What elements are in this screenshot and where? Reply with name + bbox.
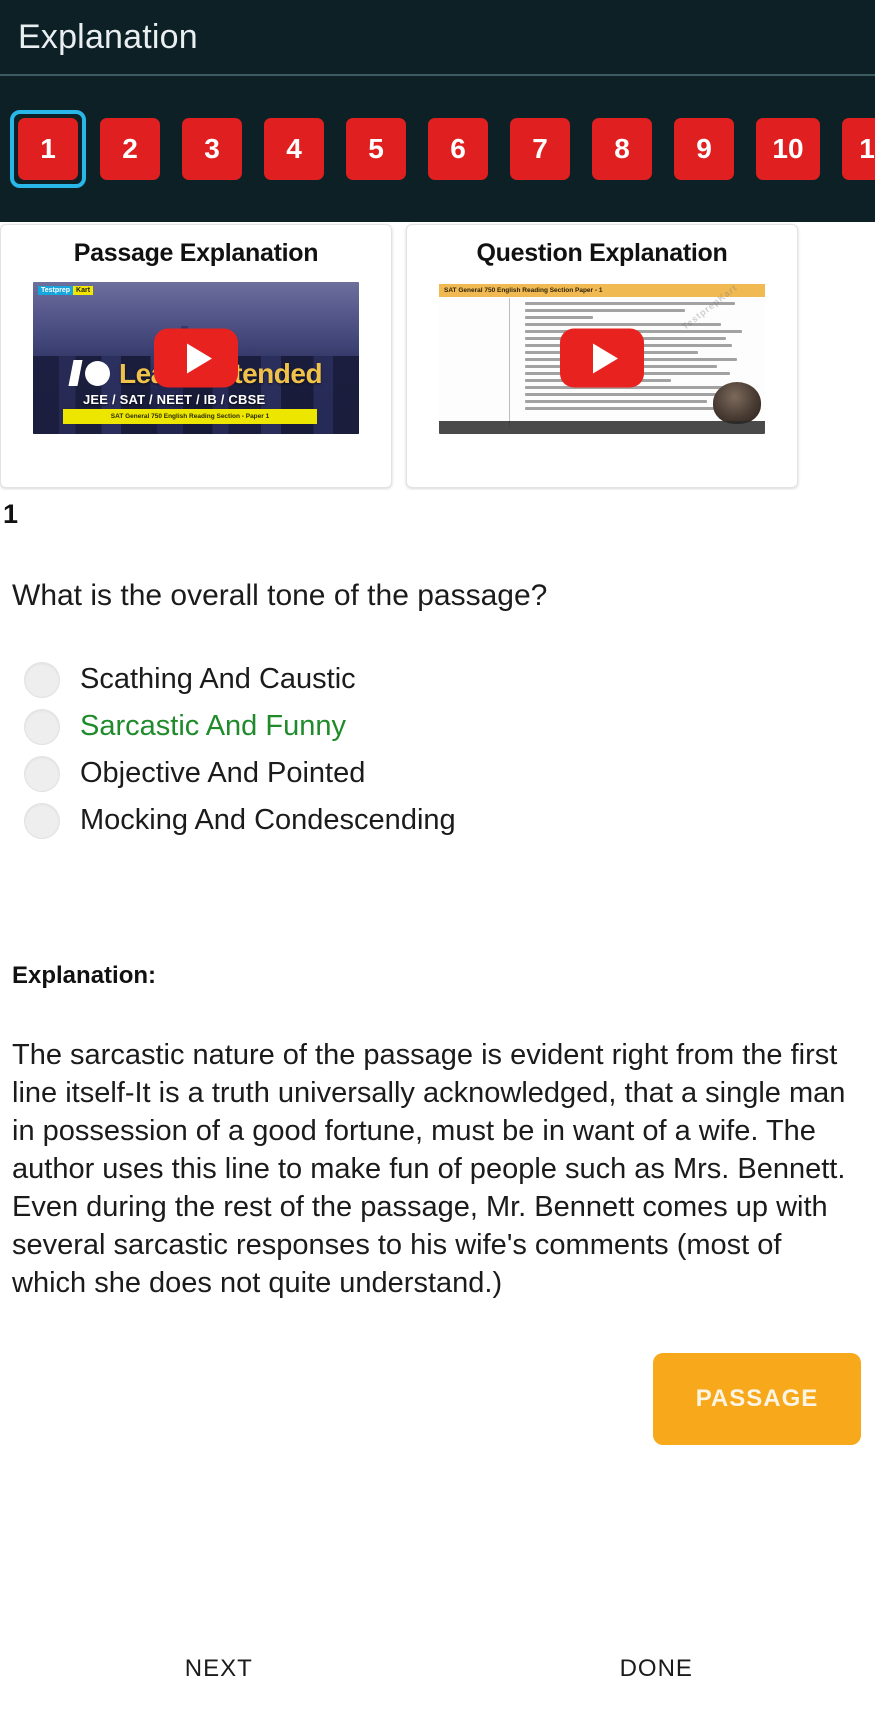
doc-line [525, 316, 593, 319]
passage-button[interactable]: PASSAGE [653, 1353, 861, 1445]
play-triangle [187, 343, 212, 373]
question-explanation-card[interactable]: Question Explanation SAT General 750 Eng… [406, 224, 798, 488]
question-number-chip: 1 [18, 118, 78, 180]
option-label: Mocking And Condescending [80, 804, 456, 837]
question-number-8[interactable]: 8 [584, 110, 660, 188]
question-number-chip: 10 [756, 118, 820, 180]
question-number-strip[interactable]: 1 2 3 4 5 6 7 8 9 10 11 [0, 76, 875, 222]
question-number-chip: 6 [428, 118, 488, 180]
brand-badge-secondary: Kart [73, 286, 93, 295]
brand-logo: Testprep Kart [38, 286, 93, 295]
option-row[interactable]: Sarcastic And Funny [12, 703, 863, 750]
question-explanation-title: Question Explanation [477, 239, 728, 268]
question-number-10[interactable]: 10 [748, 110, 828, 188]
question-number-4[interactable]: 4 [256, 110, 332, 188]
presenter-avatar [713, 382, 761, 424]
document-margin-line [509, 298, 510, 426]
explanation-heading: Explanation: [12, 962, 863, 990]
play-triangle [593, 343, 618, 373]
doc-line [525, 393, 739, 396]
question-number-5[interactable]: 5 [338, 110, 414, 188]
question-number-chip: 2 [100, 118, 160, 180]
app-bar: Explanation [0, 0, 875, 76]
option-row[interactable]: Scathing And Caustic [12, 656, 863, 703]
question-number-9[interactable]: 9 [666, 110, 742, 188]
explanation-body: The sarcastic nature of the passage is e… [12, 1036, 863, 1302]
brand-badge-primary: Testprep [38, 286, 73, 295]
io-dot [85, 361, 110, 386]
question-content: 1 What is the overall tone of the passag… [0, 496, 875, 1302]
doc-line [525, 302, 735, 305]
question-prompt: What is the overall tone of the passage? [12, 578, 863, 614]
option-label: Scathing And Caustic [80, 663, 356, 696]
youtube-play-icon[interactable] [154, 329, 238, 388]
question-number-chip: 9 [674, 118, 734, 180]
question-number-chip: 3 [182, 118, 242, 180]
passage-video-thumbnail[interactable]: Testprep Kart Learn Extended JEE / SAT /… [33, 282, 359, 434]
thumbnail-ribbon: SAT General 750 English Reading Section … [63, 409, 317, 424]
done-button[interactable]: DONE [438, 1655, 875, 1683]
io-bar [68, 360, 82, 386]
video-cards-row: Passage Explanation Testprep Kart Learn … [0, 222, 875, 490]
doc-line [525, 323, 721, 326]
video-control-bar [439, 421, 765, 434]
question-number-3[interactable]: 3 [174, 110, 250, 188]
doc-line [525, 407, 723, 410]
thumbnail-subline: JEE / SAT / NEET / IB / CBSE [83, 392, 265, 407]
next-button[interactable]: NEXT [0, 1655, 438, 1683]
question-number-1[interactable]: 1 [10, 110, 86, 188]
question-number-6[interactable]: 6 [420, 110, 496, 188]
youtube-play-icon[interactable] [560, 329, 644, 388]
question-video-thumbnail[interactable]: SAT General 750 English Reading Section … [439, 282, 765, 434]
question-index-label: 1 [3, 496, 863, 532]
question-number-chip: 11 [842, 118, 875, 180]
io-mark-icon [71, 360, 110, 386]
radio-button-icon[interactable] [24, 709, 60, 745]
doc-line [525, 309, 685, 312]
passage-explanation-card[interactable]: Passage Explanation Testprep Kart Learn … [0, 224, 392, 488]
doc-line [525, 400, 707, 403]
options-list: Scathing And Caustic Sarcastic And Funny… [12, 656, 863, 844]
option-label-correct: Sarcastic And Funny [80, 710, 346, 743]
radio-button-icon[interactable] [24, 756, 60, 792]
bottom-navigation-bar: NEXT DONE [0, 1621, 875, 1717]
page-title: Explanation [18, 18, 198, 57]
option-label: Objective And Pointed [80, 757, 365, 790]
question-number-11[interactable]: 11 [834, 110, 875, 188]
question-number-chip: 4 [264, 118, 324, 180]
radio-button-icon[interactable] [24, 662, 60, 698]
passage-explanation-title: Passage Explanation [74, 239, 318, 268]
radio-button-icon[interactable] [24, 803, 60, 839]
question-number-7[interactable]: 7 [502, 110, 578, 188]
question-number-chip: 8 [592, 118, 652, 180]
option-row[interactable]: Objective And Pointed [12, 750, 863, 797]
question-number-chip: 7 [510, 118, 570, 180]
option-row[interactable]: Mocking And Condescending [12, 797, 863, 844]
question-number-chip: 5 [346, 118, 406, 180]
question-number-2[interactable]: 2 [92, 110, 168, 188]
